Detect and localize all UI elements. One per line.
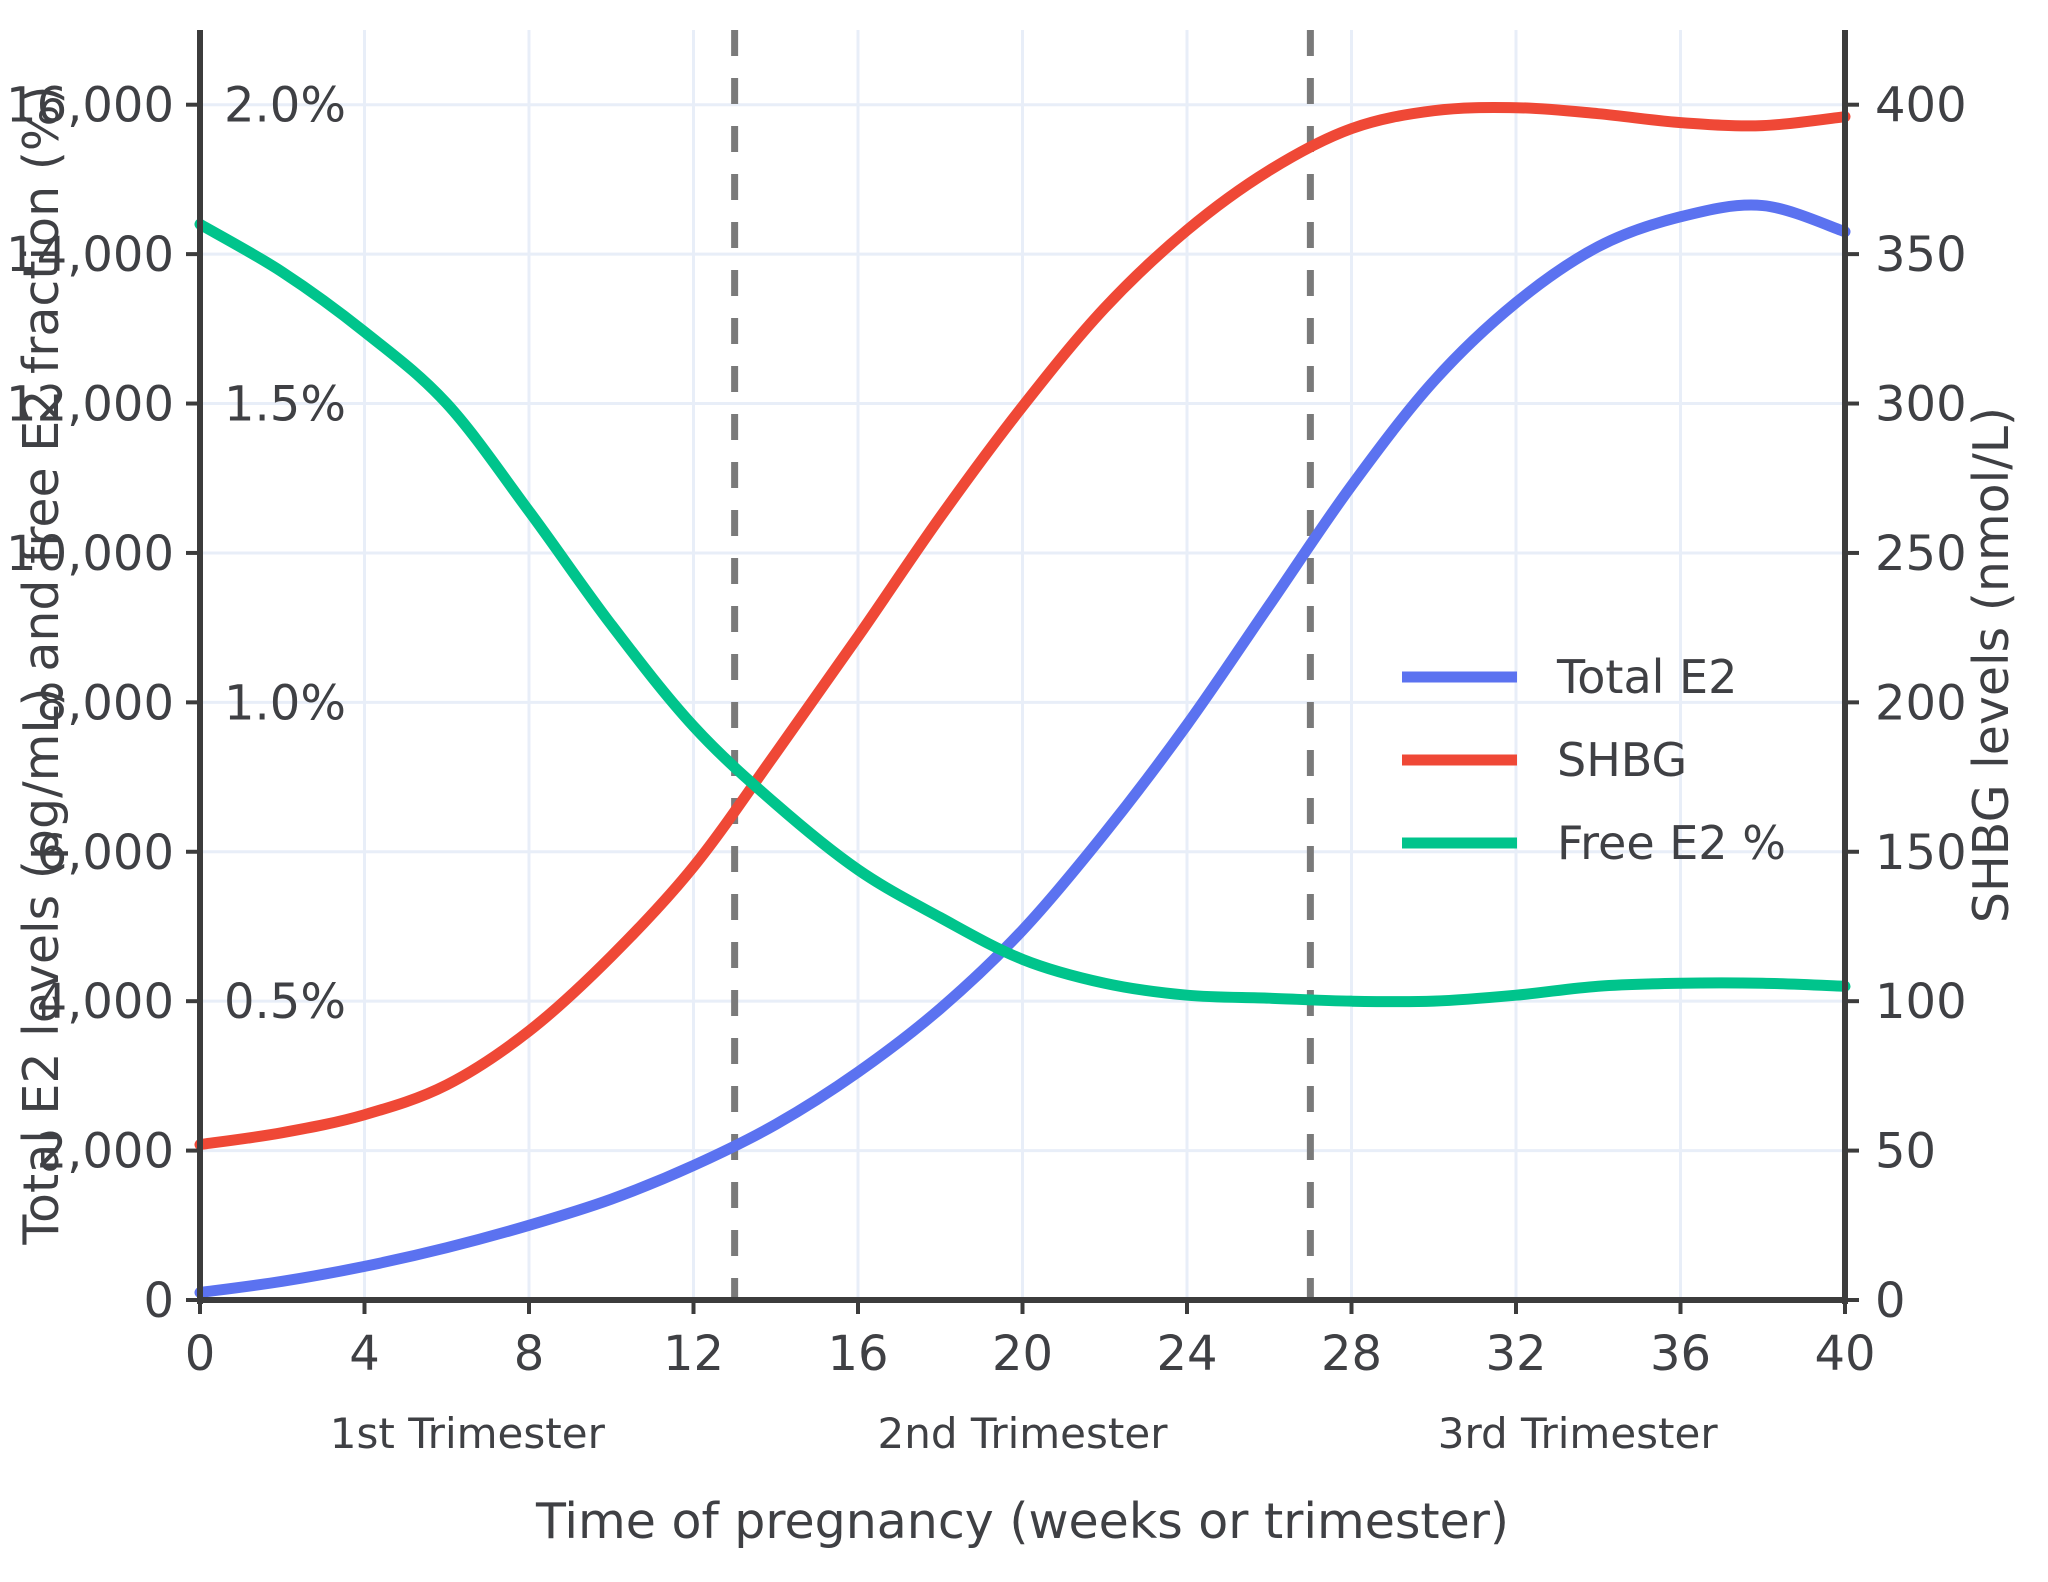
- trimester-labels: 1st Trimester2nd Trimester3rd Trimester: [330, 1409, 1719, 1458]
- x-tick-label: 0: [185, 1326, 216, 1382]
- y2-tick-label: 100: [1875, 974, 1967, 1030]
- percent-axis-label: 1.5%: [224, 377, 346, 433]
- trimester-label: 1st Trimester: [330, 1409, 606, 1458]
- trimester-label: 3rd Trimester: [1438, 1409, 1719, 1458]
- y2-tick-label: 250: [1875, 526, 1967, 582]
- y2-tick-label: 150: [1875, 825, 1967, 881]
- y-axis-title: Total E2 levels (pg/mL) and free E2 frac…: [13, 85, 70, 1245]
- x-tick-label: 4: [349, 1326, 380, 1382]
- y2-axis-title: SHBG levels (nmol/L): [1963, 407, 2020, 923]
- x-tick-label: 32: [1485, 1326, 1546, 1382]
- legend-label-free-e2[interactable]: Free E2 %: [1557, 816, 1786, 870]
- x-axis-title: Time of pregnancy (weeks or trimester): [535, 1493, 1509, 1550]
- trimester-label: 2nd Trimester: [878, 1409, 1169, 1458]
- y2-tick-label: 400: [1875, 78, 1967, 134]
- y2-tick-label: 300: [1875, 377, 1967, 433]
- y2-tick-label: 200: [1875, 675, 1967, 731]
- x-tick-label: 36: [1650, 1326, 1711, 1382]
- x-tick-label: 8: [514, 1326, 545, 1382]
- y2-tick-label: 50: [1875, 1124, 1936, 1180]
- x-tick-label: 20: [992, 1326, 1053, 1382]
- x-tick-label: 40: [1814, 1326, 1875, 1382]
- percent-axis-label: 2.0%: [224, 78, 346, 134]
- x-tick-label: 28: [1321, 1326, 1382, 1382]
- y2-tick-label: 0: [1875, 1273, 1906, 1329]
- chart-canvas: 02,0004,0006,0008,00010,00012,00014,0001…: [0, 0, 2048, 1582]
- y2-tick-label: 350: [1875, 227, 1967, 283]
- line-chart: 02,0004,0006,0008,00010,00012,00014,0001…: [0, 0, 2048, 1582]
- legend-label-shbg[interactable]: SHBG: [1557, 733, 1687, 787]
- percent-axis-label: 0.5%: [224, 974, 346, 1030]
- percent-axis-label: 1.0%: [224, 675, 346, 731]
- x-tick-label: 12: [663, 1326, 724, 1382]
- legend-label-total-e2[interactable]: Total E2: [1556, 650, 1737, 704]
- y-tick-label: 0: [143, 1273, 174, 1329]
- x-tick-label: 16: [827, 1326, 888, 1382]
- x-tick-label: 24: [1156, 1326, 1217, 1382]
